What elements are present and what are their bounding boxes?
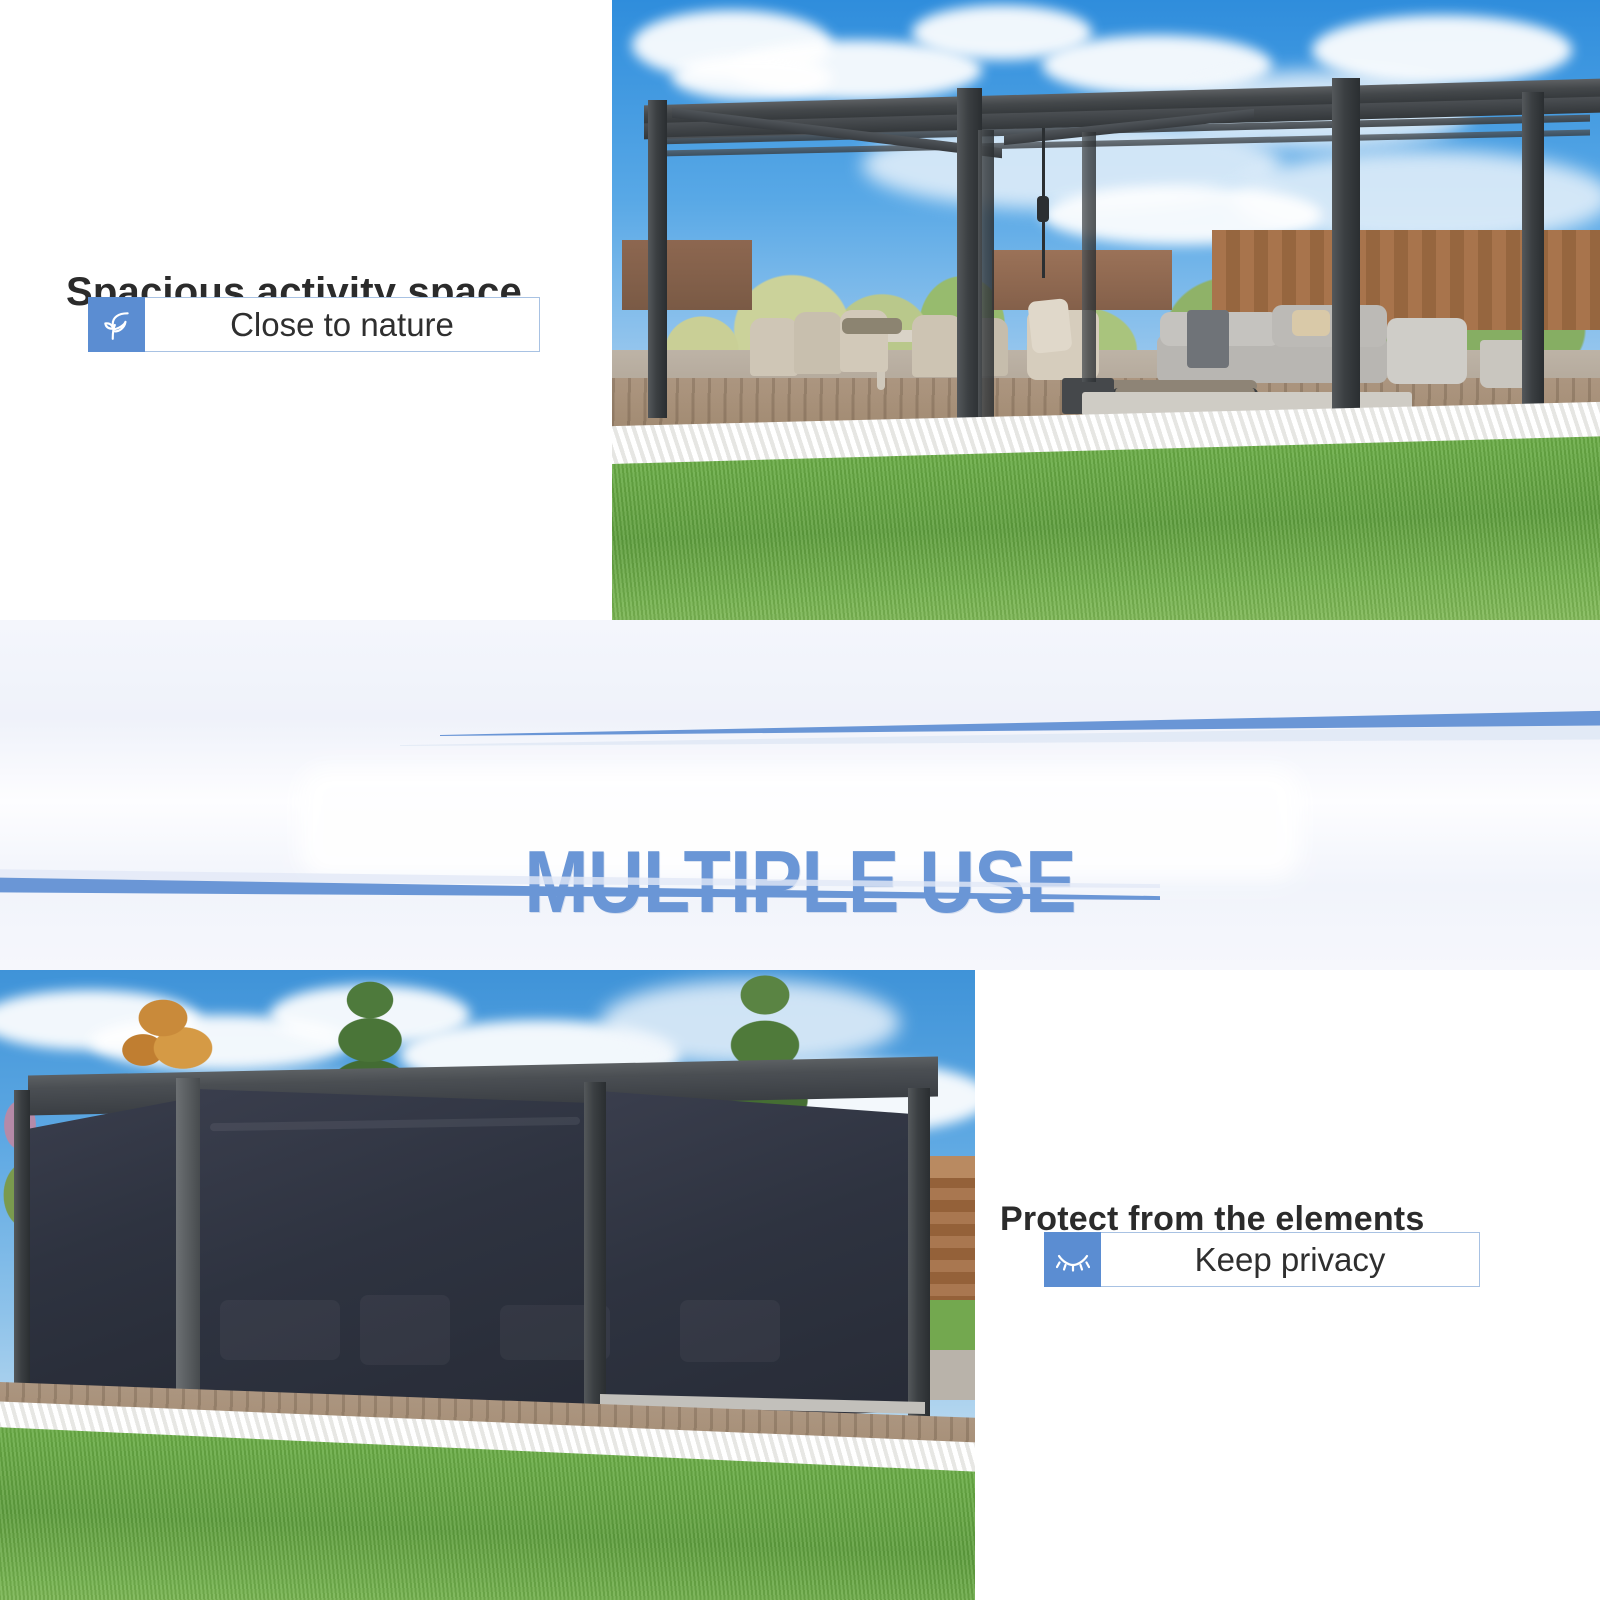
throw-blanket [1187,310,1229,368]
banner-multiple-use: MULTIPLE USE [0,620,1600,970]
closed-eye-icon [1044,1232,1101,1287]
product-feature-collage: Spacious activity space Close to nature [0,0,1600,1600]
table-decor [842,318,902,334]
furniture-silhouette [680,1300,780,1362]
cloud [672,55,832,100]
dining-chair [750,318,798,376]
badge-label: Keep privacy [1195,1241,1386,1279]
photo-pergola-screens-closed [0,970,975,1600]
pergola-post [14,1090,30,1420]
lounge-chair-back [1027,298,1072,354]
privacy-screen-left [22,1098,190,1418]
furniture-silhouette [360,1295,450,1365]
leaf-sprout-icon [88,297,145,352]
armchair [1387,318,1467,384]
privacy-screen-front-2 [604,1088,924,1424]
pergola-post [1522,92,1544,422]
photo-pergola-open [612,0,1600,620]
pergola-post [176,1078,200,1430]
badge-text-box: Keep privacy [1101,1232,1480,1287]
badge-close-to-nature: Close to nature [88,297,540,352]
pergola-post [1332,78,1360,428]
pergola-post [978,130,994,420]
cushion [1292,310,1330,336]
badge-label: Close to nature [230,306,454,344]
pergola-post [908,1088,930,1420]
cloud [1312,15,1572,85]
panel-spacious-activity-space: Spacious activity space Close to nature [0,0,1600,620]
pergola-post [648,100,667,418]
badge-keep-privacy: Keep privacy [1044,1232,1480,1287]
furniture-silhouette [220,1300,340,1360]
privacy-screen-front-1 [196,1082,592,1432]
dining-chair [794,312,842,374]
pergola-cable-weight [1037,196,1049,222]
dining-chair [912,315,962,377]
pergola-post [584,1082,606,1428]
badge-text-box: Close to nature [145,297,540,352]
pergola-post [1082,132,1096,382]
foreground-lawn [612,435,1600,620]
